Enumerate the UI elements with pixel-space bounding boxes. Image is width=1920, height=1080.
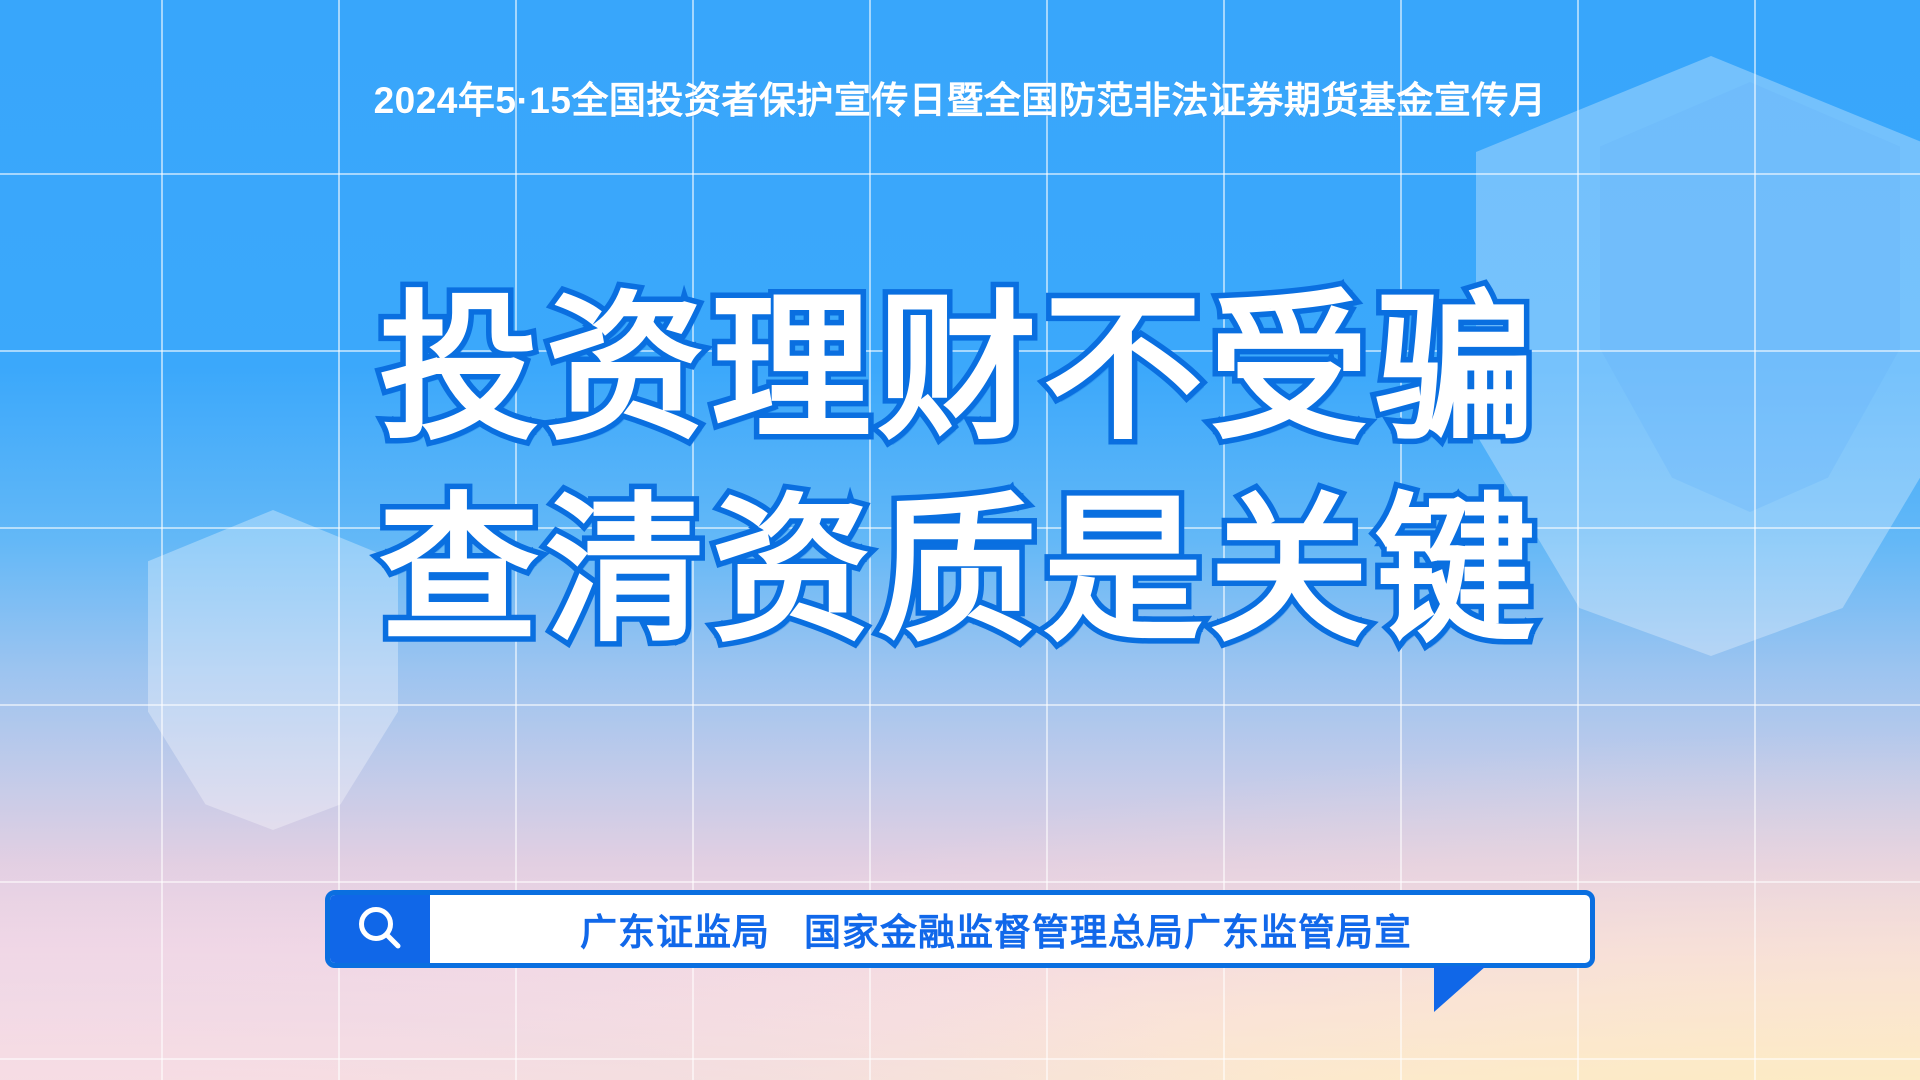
issuer-primary: 广东证监局 xyxy=(580,902,770,956)
search-icon xyxy=(352,901,408,957)
campaign-header-text: 2024年5·15全国投资者保护宣传日暨全国防范非法证券期货基金宣传月 xyxy=(374,70,1547,124)
issuer-bar: 广东证监局 国家金融监督管理总局广东监管局宣 xyxy=(325,890,1595,968)
headline-line-1: 投资理财不受骗 xyxy=(0,268,1920,470)
headline-line-2: 查清资质是关键 xyxy=(0,470,1920,672)
issuer-secondary: 国家金融监督管理总局广东监管局宣 xyxy=(804,902,1412,956)
speech-bubble-tail xyxy=(1434,966,1486,1012)
poster-canvas: 2024年5·15全国投资者保护宣传日暨全国防范非法证券期货基金宣传月 投资理财… xyxy=(0,0,1920,1080)
search-icon-tile[interactable] xyxy=(330,895,430,963)
issuer-text-group: 广东证监局 国家金融监督管理总局广东监管局宣 xyxy=(430,902,1590,956)
campaign-header: 2024年5·15全国投资者保护宣传日暨全国防范非法证券期货基金宣传月 xyxy=(0,70,1920,124)
headline-block: 投资理财不受骗 查清资质是关键 xyxy=(0,268,1920,671)
